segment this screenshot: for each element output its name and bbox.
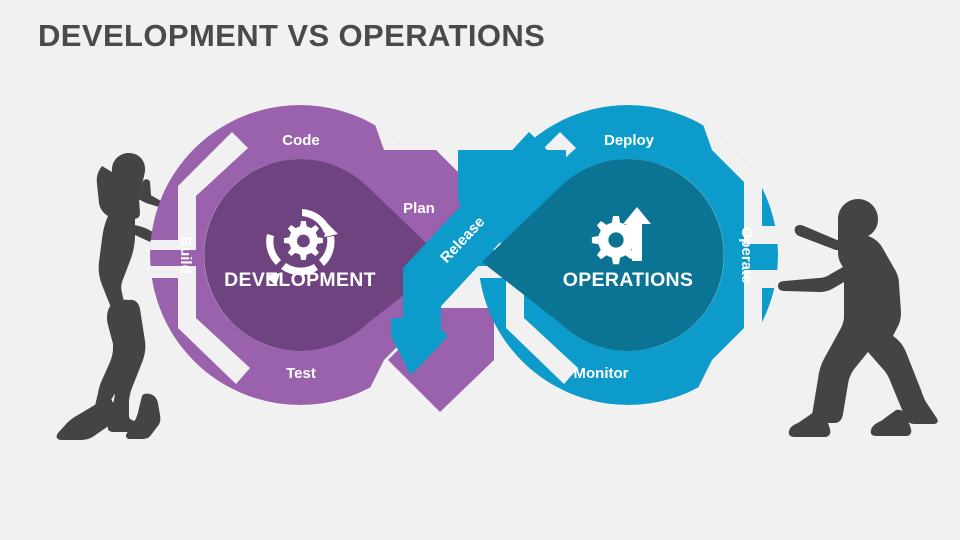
development-core-label: DEVELOPMENT <box>224 269 376 291</box>
segment-label-operate: Operate <box>738 227 755 284</box>
segment-label-plan: Plan <box>403 200 435 217</box>
segment-label-code: Code <box>282 132 320 149</box>
operations-core-label: OPERATIONS <box>563 269 693 291</box>
operations-loop[interactable]: OPERATIONS Deploy Operate Monitor <box>458 105 780 405</box>
man-pushing-right-silhouette <box>778 199 938 437</box>
segment-label-deploy: Deploy <box>604 132 655 149</box>
segment-label-build: Build <box>177 236 194 274</box>
segment-label-monitor: Monitor <box>574 365 629 382</box>
segment-label-test: Test <box>286 365 316 382</box>
devops-infinity-diagram: DEVELOPMENT Code Build Test Plan <box>0 0 960 540</box>
slide-canvas: DEVELOPMENT VS OPERATIONS <box>0 0 960 540</box>
woman-pushing-left-silhouette <box>57 153 169 440</box>
